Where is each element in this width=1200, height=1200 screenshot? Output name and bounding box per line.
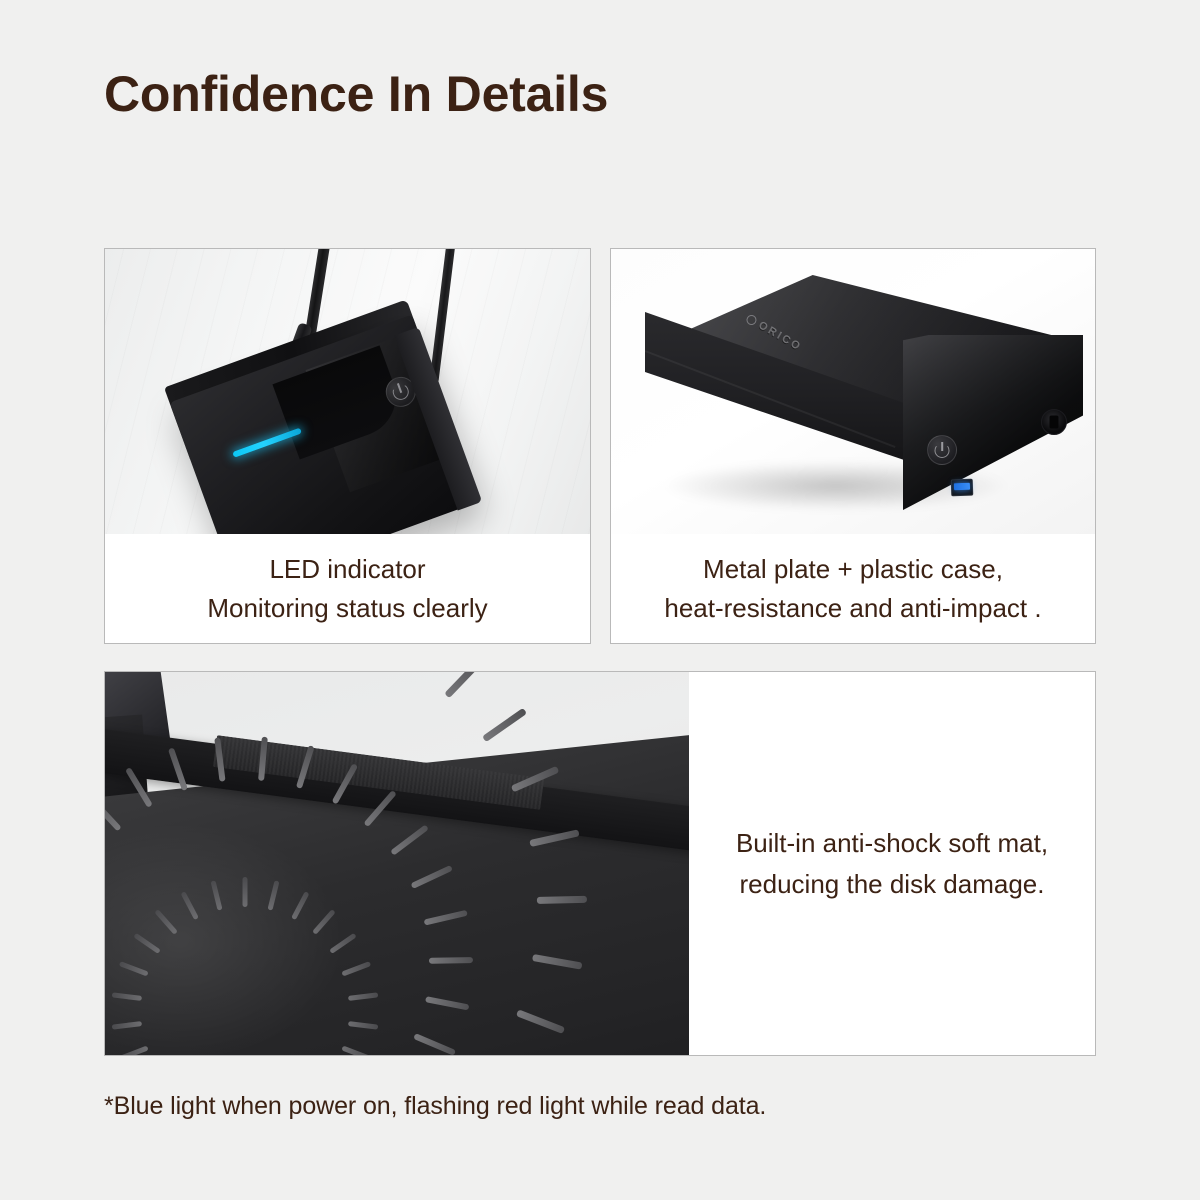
soft-mat-rib [211, 880, 223, 910]
soft-mat-rib [341, 1046, 371, 1055]
soft-mat-rib [291, 891, 309, 920]
soft-mat-rib [154, 909, 178, 935]
soft-mat-rib [243, 877, 248, 907]
soft-mat-rib [429, 957, 473, 964]
soft-mat-rib [112, 1021, 142, 1030]
caption-line: reducing the disk damage. [740, 869, 1045, 900]
soft-mat-rib [413, 1033, 456, 1055]
soft-mat-rib [445, 672, 484, 698]
led-indicator-icon [232, 428, 302, 458]
feature-card-anti-shock-mat: Built-in anti-shock soft mat, reducing t… [104, 671, 1096, 1056]
soft-mat-rib [329, 933, 357, 954]
soft-mat-rib [119, 961, 149, 976]
product-photo-enclosure-iso: ORICO [611, 249, 1095, 534]
enclosure-body: ORICO [645, 275, 1075, 525]
footnote: *Blue light when power on, flashing red … [104, 1092, 766, 1121]
usb3-port-icon [951, 479, 974, 497]
soft-mat-rib [112, 992, 142, 1001]
caption-line: Monitoring status clearly [207, 592, 487, 625]
soft-mat-rib [133, 933, 161, 954]
soft-mat-rib [181, 891, 199, 920]
soft-mat-rib [267, 880, 279, 910]
soft-mat-rib [348, 992, 378, 1001]
dc-power-jack-icon [1041, 409, 1067, 435]
feature-caption-anti-shock-mat: Built-in anti-shock soft mat, reducing t… [689, 672, 1095, 1055]
caption-line: Built-in anti-shock soft mat, [736, 828, 1048, 859]
soft-mat-rib [482, 708, 527, 742]
product-photo-led-indicator [105, 249, 590, 534]
feature-card-metal-plate: ORICO Metal plate + plastic case, heat-r… [610, 248, 1096, 644]
power-button-icon [927, 435, 957, 465]
feature-card-led-indicator: LED indicator Monitoring status clearly [104, 248, 591, 644]
caption-line: heat-resistance and anti-impact . [664, 592, 1041, 625]
caption-line: Metal plate + plastic case, [703, 553, 1003, 586]
soft-mat-rib [410, 865, 452, 889]
caption-line: LED indicator [269, 553, 425, 586]
soft-mat-rib [348, 1021, 378, 1030]
soft-mat-rib [119, 1046, 149, 1055]
page-title: Confidence In Details [104, 68, 608, 121]
product-photo-soft-mat-interior [105, 672, 689, 1055]
soft-mat-rib [312, 909, 336, 935]
soft-mat-rib [341, 961, 371, 976]
feature-caption-led-indicator: LED indicator Monitoring status clearly [105, 534, 590, 644]
feature-caption-metal-plate: Metal plate + plastic case, heat-resista… [611, 534, 1095, 644]
soft-mat-rib [537, 896, 587, 904]
product-feature-page: Confidence In Details LED indicator M [0, 0, 1200, 1200]
radial-rib-pattern [105, 868, 455, 1055]
